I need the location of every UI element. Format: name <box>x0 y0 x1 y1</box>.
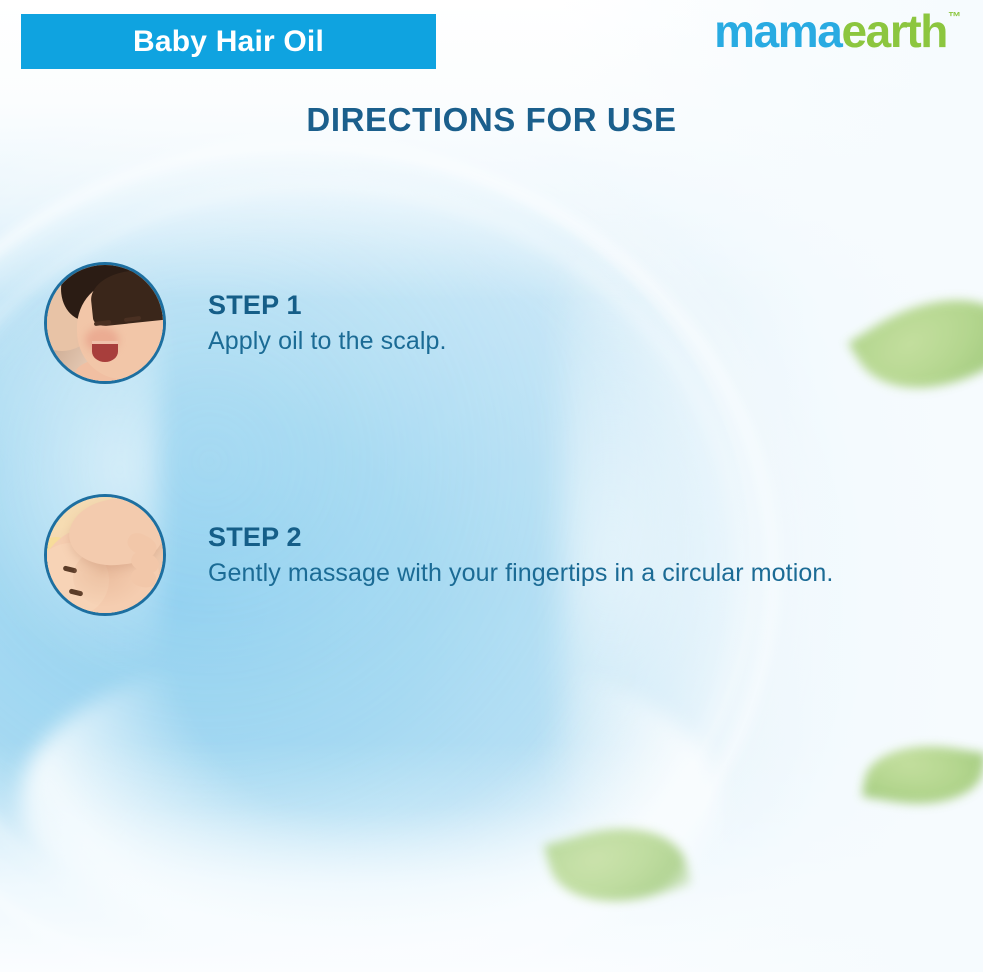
product-name-banner: Baby Hair Oil <box>21 14 436 69</box>
background-right-fade <box>563 0 983 972</box>
page-title: DIRECTIONS FOR USE <box>0 101 983 139</box>
baby-mouth-shape <box>92 341 118 362</box>
step-2-description: Gently massage with your fingertips in a… <box>208 557 833 590</box>
step-1-text-block: STEP 1 Apply oil to the scalp. <box>208 262 447 358</box>
step-1-title: STEP 1 <box>208 290 447 320</box>
step-2-thumbnail <box>44 494 166 616</box>
brand-logo: mama earth ™ <box>714 8 961 54</box>
brand-logo-earth: earth <box>842 8 948 54</box>
trademark-icon: ™ <box>948 10 961 23</box>
step-2-text-block: STEP 2 Gently massage with your fingerti… <box>208 494 833 590</box>
step-1-description: Apply oil to the scalp. <box>208 325 447 358</box>
product-name-label: Baby Hair Oil <box>133 25 324 59</box>
poster-canvas: Baby Hair Oil mama earth ™ DIRECTIONS FO… <box>0 0 983 972</box>
brand-logo-mama: mama <box>714 8 841 54</box>
step-item: STEP 2 Gently massage with your fingerti… <box>44 494 833 616</box>
step-item: STEP 1 Apply oil to the scalp. <box>44 262 447 384</box>
step-1-thumbnail <box>44 262 166 384</box>
step-2-title: STEP 2 <box>208 522 833 552</box>
